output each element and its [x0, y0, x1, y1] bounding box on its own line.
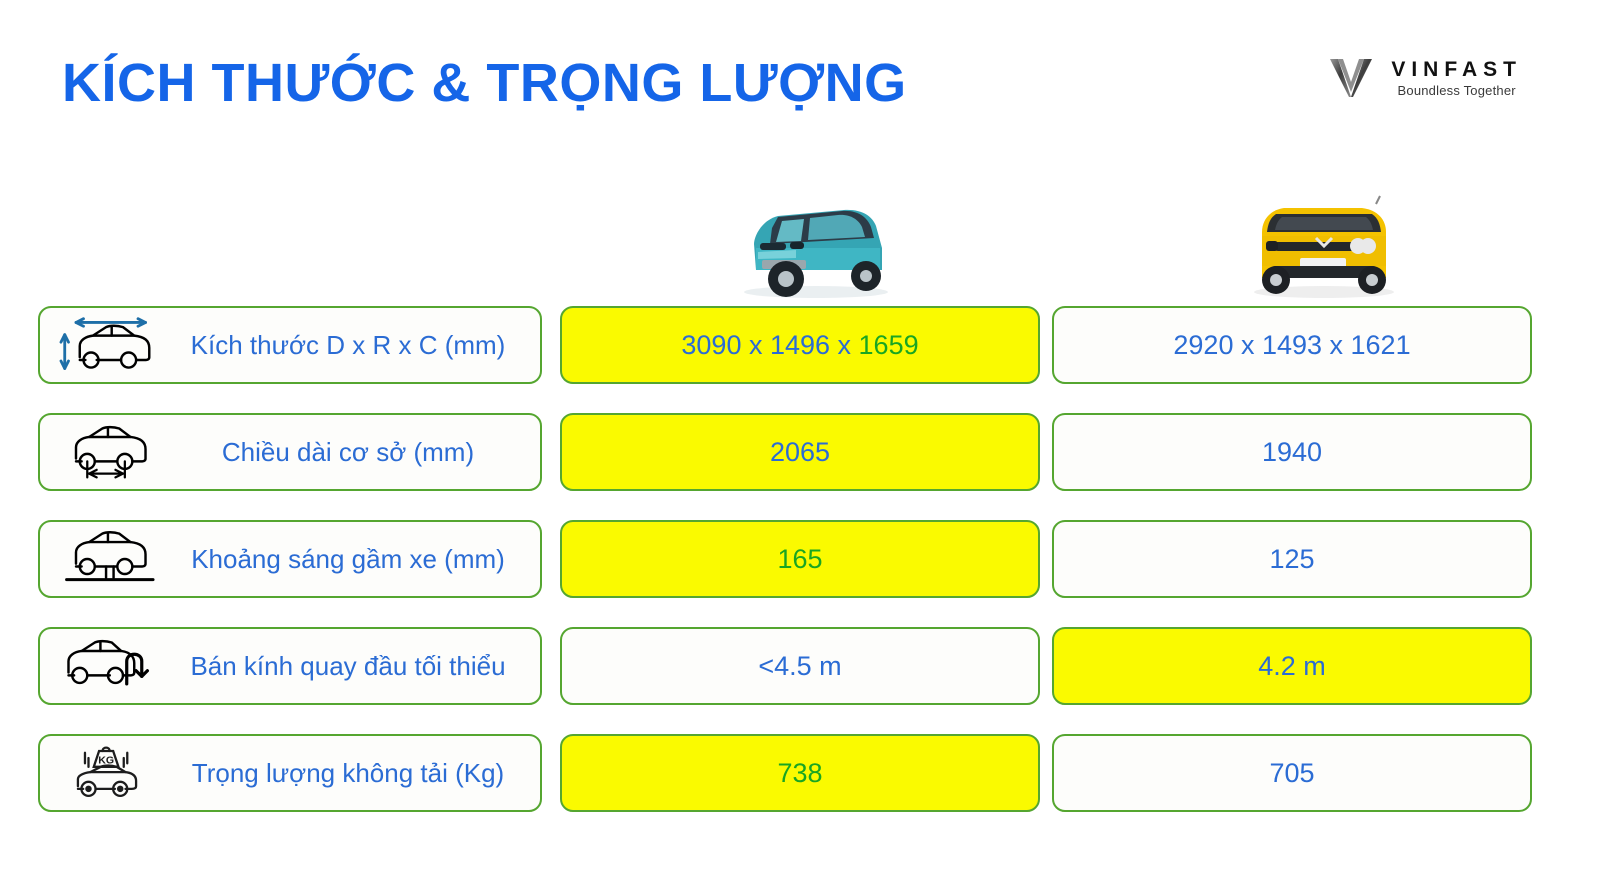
value-text: 165 [777, 546, 822, 573]
value-text: 705 [1269, 760, 1314, 787]
car-curb-weight-icon: KG [48, 740, 166, 806]
car-wheelbase-icon [48, 419, 166, 485]
value-text: 738 [777, 760, 822, 787]
vinfast-logo: VINFAST Boundless Together [1325, 52, 1522, 104]
value-cell-col-b: 125 [1052, 520, 1532, 598]
row-label-cell: Khoảng sáng gầm xe (mm) [38, 520, 542, 598]
slide-root: KÍCH THƯỚC & TRỌNG LƯỢNG VINFAST Boundle… [0, 0, 1600, 877]
vinfast-wordmark: VINFAST Boundless Together [1391, 59, 1522, 97]
value-cell-col-b: 1940 [1052, 413, 1532, 491]
row-label: Trọng lượng không tải (Kg) [166, 758, 540, 788]
brand-name: VINFAST [1391, 59, 1522, 80]
car-turning-radius-icon [48, 633, 166, 699]
value-cell-col-b: 4.2 m [1052, 627, 1532, 705]
value-text: <4.5 m [758, 653, 841, 680]
row-label-cell: KG Trọng lượng không tải (Kg) [38, 734, 542, 812]
table-row: Khoảng sáng gầm xe (mm) 165 125 [0, 520, 1600, 598]
value-cell-col-a: 738 [560, 734, 1040, 812]
row-label-cell: Bán kính quay đầu tối thiểu [38, 627, 542, 705]
row-label: Khoảng sáng gầm xe (mm) [166, 544, 540, 574]
vinfast-v-icon [1325, 52, 1377, 104]
value-cell-col-b: 2920 x 1493 x 1621 [1052, 306, 1532, 384]
table-row: KG Trọng lượng không tải (Kg) 738 705 [0, 734, 1600, 812]
value-text: 2920 x 1493 x 1621 [1173, 332, 1410, 359]
value-text: 2065 [770, 439, 830, 466]
value-text: 4.2 m [1258, 653, 1326, 680]
value-text: 125 [1269, 546, 1314, 573]
brand-tagline: Boundless Together [1398, 84, 1516, 97]
value-cell-col-a: 3090 x 1496 x 1659 [560, 306, 1040, 384]
spec-table: Kích thước D x R x C (mm) 3090 x 1496 x … [0, 306, 1600, 841]
table-row: Bán kính quay đầu tối thiểu <4.5 m 4.2 m [0, 627, 1600, 705]
svg-text:KG: KG [98, 754, 114, 766]
row-label: Bán kính quay đầu tối thiểu [166, 651, 540, 681]
value-cell-col-b: 705 [1052, 734, 1532, 812]
value-cell-col-a: 165 [560, 520, 1040, 598]
car-image-wuling [1236, 192, 1412, 302]
value-cell-col-a: <4.5 m [560, 627, 1040, 705]
page-title: KÍCH THƯỚC & TRỌNG LƯỢNG [62, 52, 907, 114]
row-label-cell: Chiều dài cơ sở (mm) [38, 413, 542, 491]
car-image-vinfast [726, 196, 902, 300]
row-label: Kích thước D x R x C (mm) [166, 330, 540, 360]
row-label: Chiều dài cơ sở (mm) [166, 437, 540, 467]
value-cell-col-a: 2065 [560, 413, 1040, 491]
car-ground-clearance-icon [48, 526, 166, 592]
car-length-height-icon [48, 312, 166, 378]
table-row: Chiều dài cơ sở (mm) 2065 1940 [0, 413, 1600, 491]
value-text: 3090 x 1496 x 1659 [681, 332, 918, 359]
value-text: 1940 [1262, 439, 1322, 466]
row-label-cell: Kích thước D x R x C (mm) [38, 306, 542, 384]
table-row: Kích thước D x R x C (mm) 3090 x 1496 x … [0, 306, 1600, 384]
